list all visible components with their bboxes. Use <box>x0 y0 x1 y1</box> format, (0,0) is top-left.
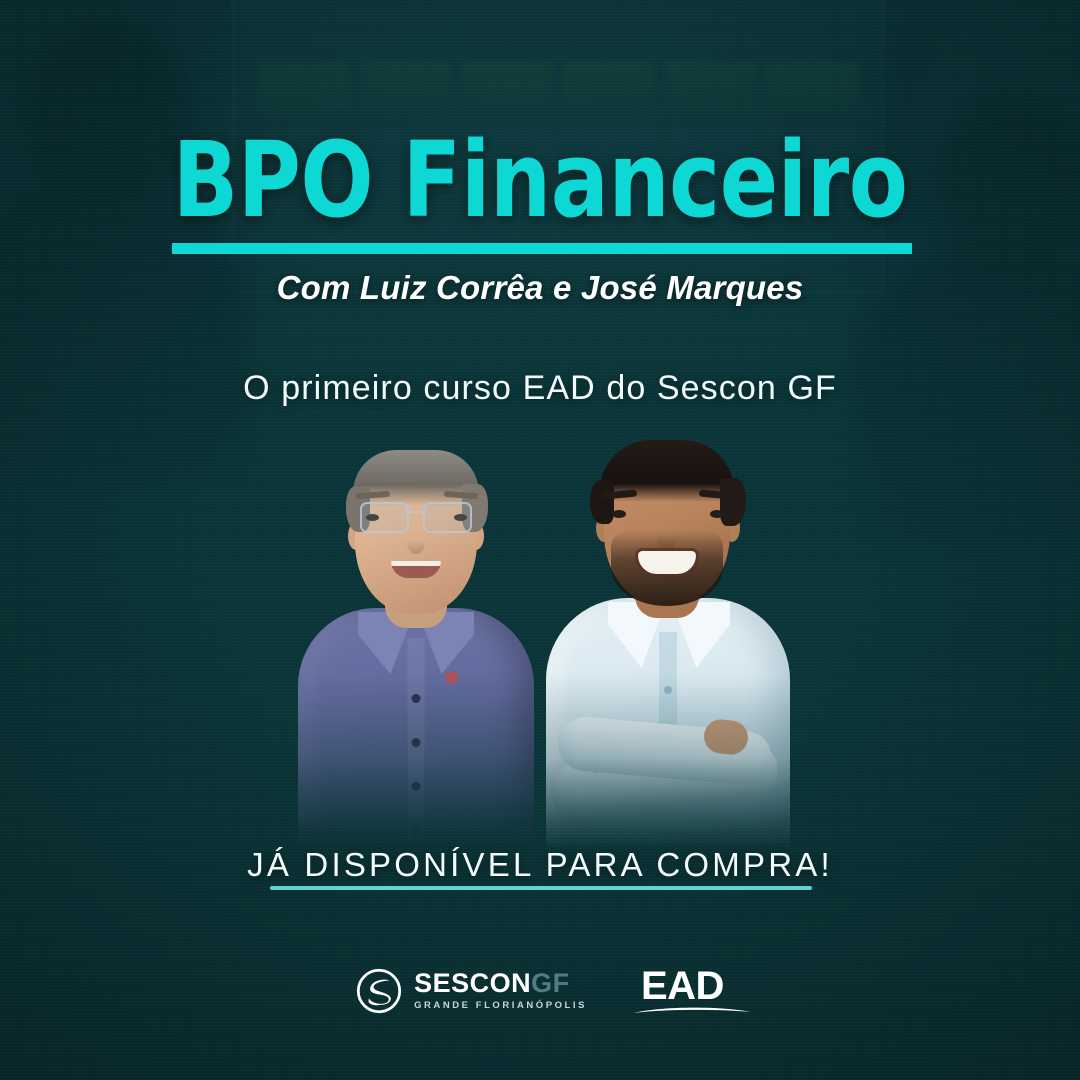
sescon-name-line: SESCONGF <box>414 970 587 997</box>
ead-swoosh-icon <box>633 1005 751 1015</box>
sescon-name-suffix: GF <box>531 968 570 998</box>
sescon-logo: SESCONGF GRANDE FLORIANÓPOLIS <box>356 968 587 1014</box>
sescon-name-main: SESCON <box>414 968 531 998</box>
title-underline-rule <box>172 243 912 254</box>
availability-callout: JÁ DISPONÍVEL PARA COMPRA! <box>0 845 1080 885</box>
poster-content: BPO Financeiro Com Luiz Corrêa e José Ma… <box>0 0 1080 1080</box>
ead-wordmark: EAD <box>641 966 724 1006</box>
footer-logos: SESCONGF GRANDE FLORIANÓPOLIS EAD <box>0 966 1080 1015</box>
sescon-subtitle: GRANDE FLORIANÓPOLIS <box>414 1001 587 1011</box>
poster-title: BPO Financeiro <box>43 128 1037 232</box>
presenters-credit: Com Luiz Corrêa e José Marques <box>0 268 1080 308</box>
promotional-poster: BPO Financeiro Com Luiz Corrêa e José Ma… <box>0 0 1080 1080</box>
poster-tagline: O primeiro curso EAD do Sescon GF <box>0 368 1080 409</box>
sescon-swirl-logo-icon <box>356 968 402 1014</box>
ead-logo: EAD <box>641 966 724 1015</box>
sescon-wordmark: SESCONGF GRANDE FLORIANÓPOLIS <box>414 970 587 1011</box>
availability-underline-rule <box>270 886 812 890</box>
